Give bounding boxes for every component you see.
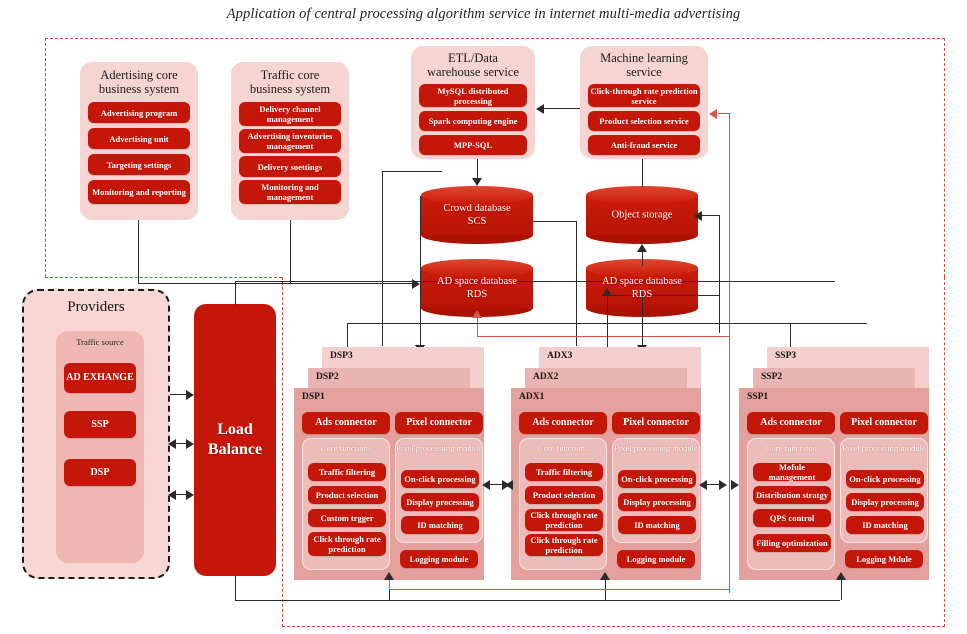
cylinder-ad-space-rds-left[interactable]: AD space database RDS [421, 259, 533, 317]
ssp-ads-connector[interactable]: Ads connector [747, 412, 835, 434]
page-title: Application of central processing algori… [0, 6, 967, 23]
arrowhead-ssp-left-in [731, 480, 739, 490]
ad-space-rds-left-line1: AD space database [437, 276, 517, 287]
ssp-core-qps-control[interactable]: QPS control [753, 509, 831, 527]
dsp-core-functions-label: Core functions [303, 443, 389, 453]
panel-etl-title-line1: ETL/Data [411, 51, 535, 65]
connector-red-bottom-run [389, 589, 729, 590]
arrowhead-etl-to-crowd-db [472, 178, 482, 186]
connector-load-balance-bottom-run [235, 600, 840, 601]
provider-dsp[interactable]: DSP [64, 459, 136, 486]
load-balance-line2: Balance [208, 441, 262, 458]
connector-traffic-core-drop [290, 220, 291, 283]
layer-adx2-label: ADX2 [533, 372, 558, 382]
arrowhead-dsp-left [482, 480, 490, 490]
panel-etl-title-line2: warehouse service [411, 65, 535, 79]
dsp-core-traffic-filtering[interactable]: Traffic filtering [308, 463, 386, 481]
connector-rds-right-drop [642, 296, 643, 346]
layer-dsp2-label: DSP2 [316, 372, 339, 382]
adx-pixel-connector[interactable]: Pixel connector [612, 412, 700, 434]
traffic-source-group[interactable]: Traffic source AD EXHANGE SSP DSP [56, 331, 144, 563]
item-monitoring-management[interactable]: Monitoring and management [239, 180, 341, 204]
connector-bottom-into-adx [605, 580, 606, 600]
panel-advertising-core-title-line2: business system [80, 82, 198, 96]
ssp-core-functions-label: Core functions [748, 443, 834, 453]
connector-feedback-riser [729, 113, 730, 593]
dsp-core-product-selection[interactable]: Product selection [308, 486, 386, 504]
layer-adx1[interactable]: ADX1 Ads connector Pixel connector Core … [511, 388, 701, 580]
adx-ads-connector[interactable]: Ads connector [519, 412, 607, 434]
cylinder-crowd-database[interactable]: Crowd database SCS [421, 186, 533, 244]
item-delivery-channel-management[interactable]: Delivery channel management [239, 102, 341, 126]
arrowhead-bottom-into-ssp [836, 572, 846, 580]
ssp-pixel-module-label: Pixel processing module [841, 443, 927, 453]
cylinder-object-storage-label: Object storage [586, 209, 698, 222]
dsp-logging-module[interactable]: Logging module [400, 550, 478, 568]
connector-rds-right-to-object-storage [642, 252, 643, 266]
connector-object-storage-riser [719, 215, 720, 333]
ssp-core-filling-optimization[interactable]: Filling optimization [753, 534, 831, 552]
ssp-core-mofule-management[interactable]: Mofule management [753, 463, 831, 481]
ssp-pixel-display-processing[interactable]: Display processing [846, 493, 924, 511]
layer-dsp1-label: DSP1 [302, 392, 325, 402]
connector-red-run-bottom [477, 336, 729, 337]
layer-dsp1[interactable]: DSP1 Ads connector Pixel connector Core … [294, 388, 484, 580]
connector-distribution-bus [347, 323, 867, 324]
arrowhead-bottom-into-dsp [384, 572, 394, 580]
connector-bottom-into-ssp [841, 580, 842, 600]
arrowhead-ml-to-etl [536, 104, 544, 114]
boundary-bridge-segment [45, 277, 282, 278]
cylinder-ad-space-rds-right-label: AD space database RDS [586, 275, 698, 301]
dsp-pixel-module-label: Pixel processiing module [396, 443, 482, 453]
connector-ml-to-object-storage [642, 159, 643, 187]
adx-pixel-module-label: Pixel processing module [613, 443, 699, 453]
layer-ssp1-label: SSP1 [747, 392, 768, 402]
adx-core-traffic-filtering[interactable]: Traffic filtering [525, 463, 603, 481]
connector-ml-to-etl [544, 108, 580, 109]
connector-rds-right-branch-drop [607, 295, 608, 347]
connector-top-to-dsp [382, 171, 442, 172]
ad-space-rds-right-line2: RDS [632, 289, 652, 300]
panel-ml-title-line1: Machine learning [580, 51, 708, 65]
adx-pixel-module-panel[interactable]: Pixel processing module On-click process… [612, 438, 700, 543]
arrowhead-bottom-into-adx [600, 572, 610, 580]
providers-title: Providers [24, 299, 168, 316]
connector-bus-left-riser [347, 323, 348, 348]
connector-load-balance-top [235, 281, 236, 305]
ssp-core-distribution-stratgy[interactable]: Distribution stratgy [753, 486, 831, 504]
dsp-pixel-on-click-processing[interactable]: On-click processing [401, 470, 479, 488]
item-mysql-distributed-processing[interactable]: MySQL distributed processing [419, 84, 527, 107]
arrowhead-red-into-rds-left [472, 310, 482, 318]
connector-crowd-db-out [533, 221, 577, 222]
layer-adx3-label: ADX3 [547, 351, 572, 361]
connector-advertising-core-drop [138, 220, 139, 283]
connector-etl-to-crowd-db [477, 159, 478, 179]
adx-core-ctr-prediction-2[interactable]: Click through rate prediction [525, 534, 603, 556]
connector-crowd-db-to-adx [576, 221, 577, 346]
adx-core-functions-label: Core functions [520, 443, 606, 453]
dsp-pixel-id-matching[interactable]: ID matching [401, 516, 479, 534]
panel-advertising-core[interactable]: Adertising core business system Advertis… [80, 62, 198, 220]
dsp-core-custom-trgger[interactable]: Custom trgger [308, 509, 386, 527]
traffic-source-label: Traffic source [56, 337, 144, 347]
panel-machine-learning[interactable]: Machine learning service Click-through r… [580, 46, 708, 159]
connector-object-storage-in [700, 215, 720, 216]
item-targeting-settings[interactable]: Targeting settings [88, 154, 190, 175]
cylinder-object-storage[interactable]: Object storage [586, 186, 698, 244]
arrowhead-adx-right [719, 480, 727, 490]
adx-pixel-on-click-processing[interactable]: On-click processing [618, 470, 696, 488]
arrowhead-adx-left [505, 480, 513, 490]
arrowhead-provider-1 [186, 390, 194, 400]
item-ctr-prediction-service[interactable]: Click-through rate prediction service [588, 84, 700, 107]
arrowhead-provider-2-left [168, 439, 176, 449]
connector-load-balance-top-run [235, 281, 835, 282]
provider-ad-exhange[interactable]: AD EXHANGE [64, 363, 136, 393]
ssp-core-functions-panel[interactable]: Core functions Mofule management Distrib… [747, 438, 835, 570]
item-advertising-program[interactable]: Advertising program [88, 102, 190, 123]
load-balance-line1: Load [217, 421, 253, 438]
connector-red-bottom-riser [389, 580, 390, 589]
layer-ssp1[interactable]: SSP1 Ads connector Pixel connector Core … [739, 388, 929, 580]
cylinder-ad-space-rds-left-label: AD space database RDS [421, 275, 533, 301]
layer-dsp3-label: DSP3 [330, 351, 353, 361]
crowd-db-line2: SCS [468, 216, 487, 227]
panel-advertising-core-title-line1: Adertising core [80, 68, 198, 82]
adx-core-product-selection[interactable]: Product selection [525, 486, 603, 504]
connector-bus-to-ssp [790, 323, 791, 347]
item-mpp-sql[interactable]: MPP-SQL [419, 135, 527, 155]
connector-red-into-rds-left [477, 318, 478, 336]
crowd-db-line1: Crowd database [443, 203, 510, 214]
item-spark-computing-engine[interactable]: Spark computing engine [419, 111, 527, 131]
item-monitoring-reporting[interactable]: Monitoring and reporting [88, 180, 190, 204]
adx-pixel-display-processing[interactable]: Display processing [618, 493, 696, 511]
arrowhead-rds-right-to-object-storage [637, 244, 647, 252]
ssp-pixel-id-matching[interactable]: ID matching [846, 516, 924, 534]
panel-traffic-core[interactable]: Traffic core business system Delivery ch… [231, 62, 349, 220]
dsp-pixel-connector[interactable]: Pixel connector [395, 412, 483, 434]
adx-core-functions-panel[interactable]: Core functions Traffic filtering Product… [519, 438, 607, 570]
panel-traffic-core-title-line1: Traffic core [231, 68, 349, 82]
load-balance-box[interactable]: Load Balance [194, 304, 276, 576]
cylinder-crowd-database-label: Crowd database SCS [421, 202, 533, 228]
ssp-pixel-module-panel[interactable]: Pixel processing module On-click process… [840, 438, 928, 543]
connector-load-balance-bottom [235, 576, 236, 601]
arrowhead-feedback-to-ml [709, 109, 717, 119]
dsp-core-functions-panel[interactable]: Core functions Traffic filtering Product… [302, 438, 390, 570]
arrowhead-provider-3-right [186, 490, 194, 500]
item-advertising-unit[interactable]: Advertising unit [88, 128, 190, 149]
arrowhead-provider-3-left [168, 490, 176, 500]
panel-traffic-core-title-line2: business system [231, 82, 349, 96]
cylinder-top [586, 186, 698, 204]
layer-adx1-label: ADX1 [519, 392, 544, 402]
layer-ssp3-label: SSP3 [775, 351, 796, 361]
arrowhead-provider-2-right [186, 439, 194, 449]
adx-pixel-id-matching[interactable]: ID matching [618, 516, 696, 534]
provider-ssp[interactable]: SSP [64, 411, 136, 438]
item-delivery-soettings[interactable]: Delivery soettings [239, 156, 341, 177]
arrowhead-adx-right-back [699, 480, 707, 490]
dsp-pixel-module-panel[interactable]: Pixel processiing module On-click proces… [395, 438, 483, 543]
layer-ssp2-label: SSP2 [761, 372, 782, 382]
panel-ml-title-line2: service [580, 65, 708, 79]
ssp-pixel-connector[interactable]: Pixel connector [840, 412, 928, 434]
item-product-selection-service[interactable]: Product selection service [588, 111, 700, 131]
ssp-pixel-on-click-processing[interactable]: On-click processing [846, 470, 924, 488]
panel-etl-warehouse[interactable]: ETL/Data warehouse service MySQL distrib… [411, 46, 535, 159]
ad-space-rds-right-line1: AD space database [602, 276, 682, 287]
diagram-canvas: Application of central processing algori… [0, 0, 967, 634]
connector-left-to-dsp [382, 171, 383, 346]
connector-advertising-core-run [138, 283, 290, 284]
ssp-logging-mdule[interactable]: Logging Mdule [845, 550, 923, 568]
load-balance-label: Load Balance [208, 420, 262, 460]
item-advertising-inventories-management[interactable]: Advertising inventories management [239, 129, 341, 153]
providers-box[interactable]: Providers Traffic source AD EXHANGE SSP … [22, 289, 170, 579]
connector-traffic-core-to-rds [290, 283, 413, 284]
boundary-left-segment [45, 38, 46, 277]
adx-core-ctr-prediction-1[interactable]: Click through rate prediction [525, 509, 603, 531]
adx-logging-module[interactable]: Logging module [617, 550, 695, 568]
item-anti-fraud-service[interactable]: Anti-fraud service [588, 135, 700, 155]
ad-space-rds-left-line2: RDS [467, 289, 487, 300]
dsp-core-ctr-prediction[interactable]: Click through rate prediction [308, 532, 386, 556]
dsp-ads-connector[interactable]: Ads connector [302, 412, 390, 434]
dsp-pixel-display-processing[interactable]: Display processing [401, 493, 479, 511]
